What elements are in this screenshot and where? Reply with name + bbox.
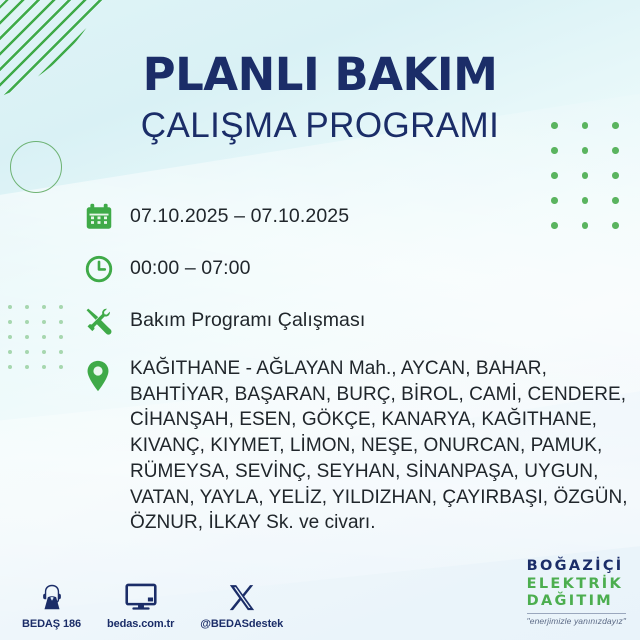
location-line: KAĞITHANE - AĞLAYAN Mah., AYCAN, BAHAR, (130, 356, 628, 382)
bedas-logo: BOĞAZİÇİ ELEKTRİK DAĞITIM "enerjimizle y… (527, 558, 626, 626)
calendar-icon (84, 200, 130, 238)
page-subtitle: ÇALIŞMA PROGRAMI (0, 108, 640, 143)
contact-label: BEDAŞ 186 (22, 618, 81, 630)
circle-outline-decoration (10, 141, 62, 193)
location-text: KAĞITHANE - AĞLAYAN Mah., AYCAN, BAHAR, … (130, 356, 628, 536)
location-line: CİHANŞAH, ESEN, GÖKÇE, KANARYA, KAĞITHAN… (130, 407, 628, 433)
time-row: 00:00 – 07:00 (84, 252, 629, 290)
location-line: RÜMEYSA, SEVİNÇ, SEYHAN, SİNANPAŞA, UYGU… (130, 459, 628, 485)
tools-icon (84, 304, 130, 342)
x-twitter-icon (228, 578, 256, 612)
poster-footer: BEDAŞ 186 bedas.com.tr (0, 554, 640, 640)
work-type-text: Bakım Programı Çalışması (130, 304, 365, 333)
work-type-row: Bakım Programı Çalışması (84, 304, 629, 342)
date-range-text: 07.10.2025 – 07.10.2025 (130, 200, 349, 229)
time-range-text: 00:00 – 07:00 (130, 252, 251, 281)
location-line: VATAN, YAYLA, YELİZ, YILDIZHAN, ÇAYIRBAŞ… (130, 485, 628, 511)
maintenance-details: 07.10.2025 – 07.10.2025 00:00 – 07:00 (84, 200, 629, 536)
planned-maintenance-poster: PLANLI BAKIM ÇALIŞMA PROGRAMI (0, 0, 640, 640)
brand-line-elektrik: ELEKTRİK (527, 576, 626, 593)
map-pin-icon (84, 356, 130, 396)
brand-line-bogazici: BOĞAZİÇİ (527, 558, 626, 575)
brand-line-dagitim: DAĞITIM (527, 593, 626, 610)
contact-website[interactable]: bedas.com.tr (107, 578, 174, 630)
page-title: PLANLI BAKIM (0, 52, 640, 97)
contact-x-social[interactable]: @BEDASdestek (200, 578, 283, 630)
date-row: 07.10.2025 – 07.10.2025 (84, 200, 629, 238)
clock-icon (84, 252, 130, 290)
location-line: KIVANÇ, KIYMET, LİMON, NEŞE, ONURCAN, PA… (130, 433, 628, 459)
location-line: BAHTİYAR, BAŞARAN, BURÇ, BİROL, CAMİ, CE… (130, 382, 628, 408)
contact-label: @BEDASdestek (200, 618, 283, 630)
poster-header: PLANLI BAKIM ÇALIŞMA PROGRAMI (0, 52, 640, 143)
location-row: KAĞITHANE - AĞLAYAN Mah., AYCAN, BAHAR, … (84, 356, 629, 536)
brand-divider (527, 613, 626, 614)
monitor-website-icon (125, 578, 157, 612)
location-line: ÖZNUR, İLKAY Sk. ve civarı. (130, 510, 628, 536)
contact-channels: BEDAŞ 186 bedas.com.tr (22, 578, 309, 630)
dot-grid-left-decoration (8, 305, 76, 380)
brand-tagline: "enerjimizle yanınızdayız" (527, 616, 626, 626)
headset-support-icon (37, 578, 67, 612)
contact-call-center[interactable]: BEDAŞ 186 (22, 578, 81, 630)
contact-label: bedas.com.tr (107, 618, 174, 630)
